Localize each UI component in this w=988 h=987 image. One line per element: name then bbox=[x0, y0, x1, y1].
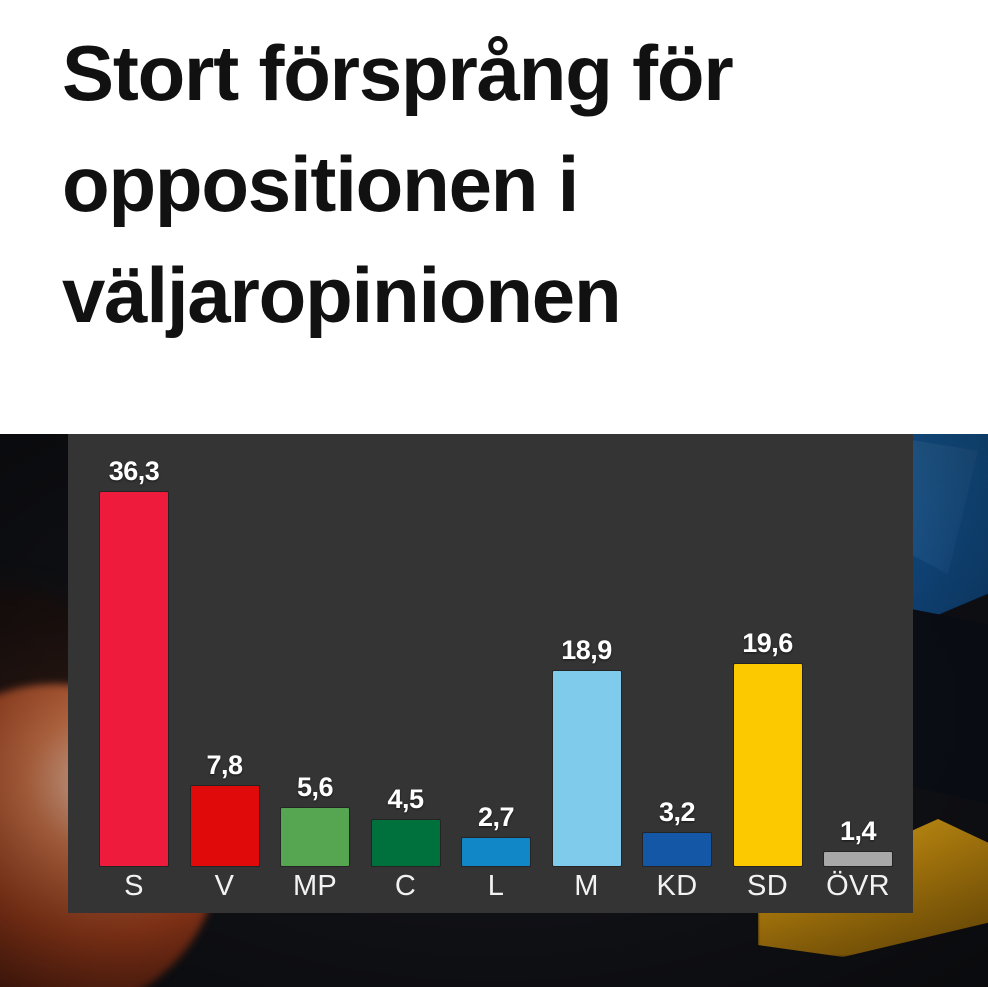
bar-column-l: 2,7 bbox=[457, 442, 535, 866]
bar-rect-kd bbox=[643, 833, 711, 866]
bar-rect-m bbox=[553, 671, 621, 866]
bar-value-label: 1,4 bbox=[840, 818, 876, 845]
chart-category-axis: SVMPCLMKDSDÖVR bbox=[95, 866, 897, 908]
bar-value-label: 4,5 bbox=[387, 786, 423, 813]
bar-column-m: 18,9 bbox=[548, 442, 626, 866]
axis-label-kd: KD bbox=[638, 866, 716, 908]
poll-bar-chart: 36,37,85,64,52,718,93,219,61,4 SVMPCLMKD… bbox=[68, 434, 913, 913]
bar-value-label: 3,2 bbox=[659, 799, 695, 826]
headline-block: Stort försprång för oppositionen i välja… bbox=[0, 0, 988, 434]
bar-rect-l bbox=[462, 838, 530, 866]
video-frame: 36,37,85,64,52,718,93,219,61,4 SVMPCLMKD… bbox=[0, 434, 988, 987]
bar-value-label: 5,6 bbox=[297, 774, 333, 801]
bar-column-sd: 19,6 bbox=[729, 442, 807, 866]
axis-label-mp: MP bbox=[276, 866, 354, 908]
bar-rect-s bbox=[100, 492, 168, 866]
axis-label-m: M bbox=[548, 866, 626, 908]
bar-rect-sd bbox=[734, 664, 802, 866]
bar-rect-mp bbox=[281, 808, 349, 866]
chart-bars: 36,37,85,64,52,718,93,219,61,4 bbox=[95, 442, 897, 866]
axis-label-v: V bbox=[186, 866, 264, 908]
bar-value-label: 2,7 bbox=[478, 804, 514, 831]
bar-column-mp: 5,6 bbox=[276, 442, 354, 866]
bar-value-label: 19,6 bbox=[742, 630, 793, 657]
bar-column-c: 4,5 bbox=[367, 442, 445, 866]
bar-value-label: 18,9 bbox=[561, 637, 612, 664]
axis-label-l: L bbox=[457, 866, 535, 908]
axis-label-sd: SD bbox=[729, 866, 807, 908]
bar-column-kd: 3,2 bbox=[638, 442, 716, 866]
bar-column-s: 36,3 bbox=[95, 442, 173, 866]
bar-value-label: 7,8 bbox=[206, 752, 242, 779]
axis-label-c: C bbox=[367, 866, 445, 908]
bar-rect-v bbox=[191, 786, 259, 866]
bar-value-label: 36,3 bbox=[109, 458, 160, 485]
bar-rect-övr bbox=[824, 852, 892, 866]
chart-plot-area: 36,37,85,64,52,718,93,219,61,4 SVMPCLMKD… bbox=[95, 442, 897, 913]
bar-column-övr: 1,4 bbox=[819, 442, 897, 866]
axis-label-övr: ÖVR bbox=[819, 866, 897, 908]
bar-rect-c bbox=[372, 820, 440, 866]
axis-label-s: S bbox=[95, 866, 173, 908]
page-title: Stort försprång för oppositionen i välja… bbox=[62, 18, 988, 350]
bar-column-v: 7,8 bbox=[186, 442, 264, 866]
